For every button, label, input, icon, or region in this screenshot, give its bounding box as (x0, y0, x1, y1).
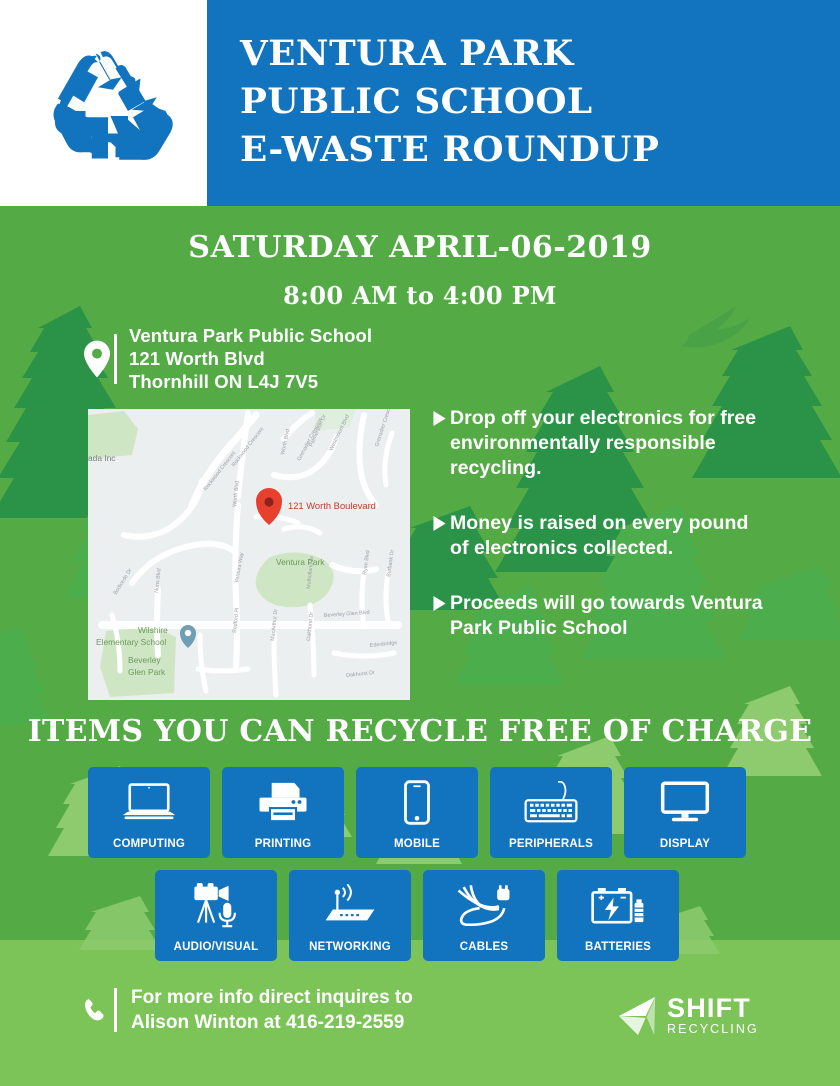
recycle-icon (48, 46, 178, 166)
monitor-icon (660, 777, 710, 827)
triangle-bullet-icon (430, 596, 450, 611)
map-label-wilshire-1: Wilshire (138, 625, 168, 635)
laptop-icon (121, 777, 177, 827)
list-item: Drop off your electronics for free envir… (430, 406, 770, 481)
event-date: SATURDAY APRIL-06-2019 (0, 230, 840, 265)
category-tile-audio-visual[interactable]: AUDIO/VISUAL (155, 870, 277, 961)
triangle-bullet-icon (430, 411, 450, 426)
printer-icon (256, 777, 310, 827)
address-text: Ventura Park Public School 121 Worth Blv… (129, 324, 372, 393)
triangle-bullet-icon (430, 516, 450, 531)
map-label-ada-inc: ada Inc (88, 453, 115, 463)
address-line-3: Thornhill ON L4J 7V5 (129, 370, 372, 393)
category-tile-mobile[interactable]: MOBILE (356, 767, 478, 858)
contact-line-1: For more info direct inquires to (131, 985, 413, 1010)
recycle-categories-row-2: AUDIO/VISUAL NETWORKING (155, 870, 688, 961)
shift-recycling-logo: SHIFT RECYCLING (617, 990, 767, 1042)
battery-icon (590, 880, 646, 930)
tile-label: BATTERIES (557, 941, 679, 953)
recycle-categories-row-1: COMPUTING PRINTING (88, 767, 754, 858)
contact-line-2: Alison Winton at 416-219-2559 (131, 1010, 413, 1035)
map-label-ventura-park: Ventura Park (276, 557, 325, 567)
title-line-3: E-WASTE ROUNDUP (240, 126, 832, 174)
category-tile-batteries[interactable]: BATTERIES (557, 870, 679, 961)
map-label-beverley-2: Glen Park (128, 667, 166, 677)
map-marker-label: 121 Worth Boulevard (288, 500, 376, 511)
map-label-beverley-1: Beverley (128, 655, 161, 665)
address-divider (114, 334, 117, 384)
bullet-text-2: Money is raised on every pound of electr… (450, 511, 770, 561)
title-line-1: VENTURA PARK (240, 30, 832, 78)
tile-label: MOBILE (356, 838, 478, 850)
tile-label: PRINTING (222, 838, 344, 850)
tile-label: NETWORKING (289, 941, 411, 953)
header: VENTURA PARK PUBLIC SCHOOL E-WASTE ROUND… (0, 0, 840, 206)
phone-icon (84, 996, 106, 1024)
main-body: SATURDAY APRIL-06-2019 8:00 AM to 4:00 P… (0, 206, 840, 1086)
keyboard-icon (522, 777, 580, 827)
category-tile-computing[interactable]: COMPUTING (88, 767, 210, 858)
category-tile-printing[interactable]: PRINTING (222, 767, 344, 858)
shift-brand-name: SHIFT (667, 995, 759, 1022)
map-label-wilshire-2: Elementary School (96, 637, 166, 647)
title-line-2: PUBLIC SCHOOL (240, 78, 832, 126)
cable-plug-icon (455, 880, 513, 930)
tile-label: COMPUTING (88, 838, 210, 850)
contact-text: For more info direct inquires to Alison … (131, 985, 413, 1035)
category-tile-peripherals[interactable]: PERIPHERALS (490, 767, 612, 858)
address-block: Ventura Park Public School 121 Worth Blv… (84, 324, 372, 393)
router-icon (322, 880, 378, 930)
map-pin-icon (84, 339, 110, 379)
address-line-2: 121 Worth Blvd (129, 347, 372, 370)
event-time: 8:00 AM to 4:00 PM (0, 281, 840, 310)
contact-block: For more info direct inquires to Alison … (84, 985, 413, 1035)
benefits-list: Drop off your electronics for free envir… (430, 406, 770, 663)
location-map[interactable]: Rockwood Crescent Rockwood Crescent Wort… (88, 409, 410, 700)
list-item: Proceeds will go towards Ventura Park Pu… (430, 591, 770, 641)
contact-divider (114, 988, 117, 1032)
items-heading: ITEMS YOU CAN RECYCLE FREE OF CHARGE (0, 714, 840, 749)
address-line-1: Ventura Park Public School (129, 324, 372, 347)
smartphone-icon (404, 777, 430, 827)
list-item: Money is raised on every pound of electr… (430, 511, 770, 561)
bullet-text-3: Proceeds will go towards Ventura Park Pu… (450, 591, 770, 641)
tile-label: AUDIO/VISUAL (155, 941, 277, 953)
category-tile-cables[interactable]: CABLES (423, 870, 545, 961)
shift-brand-sub: RECYCLING (667, 1022, 759, 1037)
tile-label: DISPLAY (624, 838, 746, 850)
shift-arrow-icon (617, 995, 659, 1037)
category-tile-display[interactable]: DISPLAY (624, 767, 746, 858)
tile-label: PERIPHERALS (490, 838, 612, 850)
bullet-text-1: Drop off your electronics for free envir… (450, 406, 770, 481)
category-tile-networking[interactable]: NETWORKING (289, 870, 411, 961)
tile-label: CABLES (423, 941, 545, 953)
camera-microphone-icon (189, 880, 243, 930)
header-title-group: VENTURA PARK PUBLIC SCHOOL E-WASTE ROUND… (240, 30, 820, 174)
